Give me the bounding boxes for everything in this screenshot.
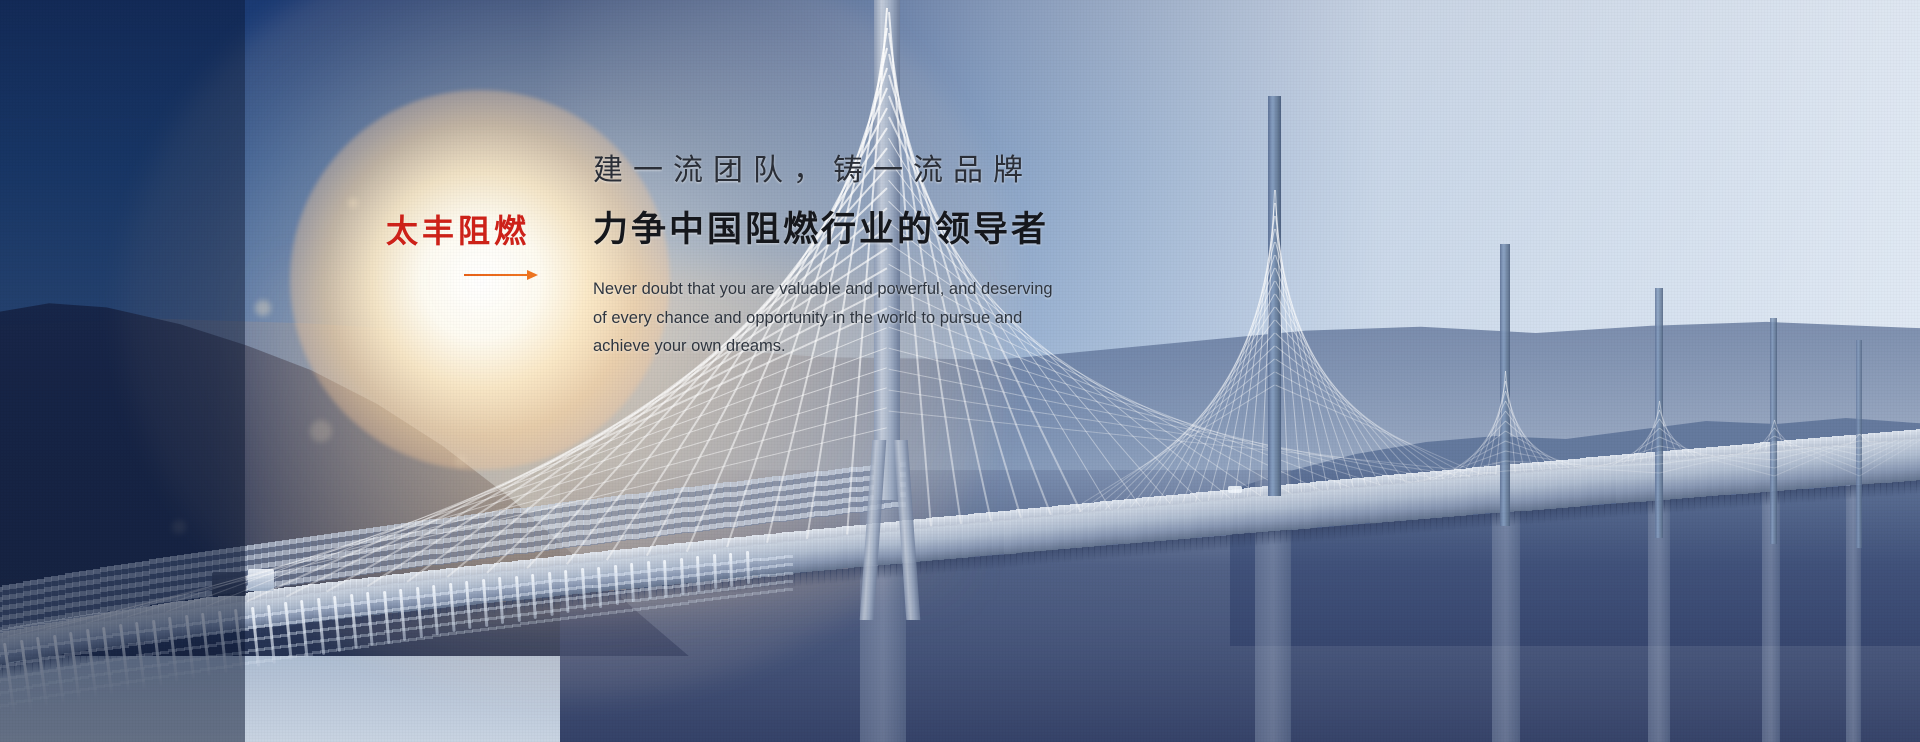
flare-speck bbox=[455, 455, 467, 467]
subtext-line-3: achieve your own dreams. bbox=[593, 332, 1373, 360]
banner-copy: 建一流团队，铸一流品牌 力争中国阻燃行业的领导者 Never doubt tha… bbox=[593, 150, 1373, 360]
headline-primary: 建一流团队，铸一流品牌 bbox=[593, 150, 1373, 192]
railing-band bbox=[784, 555, 793, 558]
brand-logo[interactable]: 太丰阻燃 bbox=[378, 215, 538, 279]
pylon-distant bbox=[1856, 340, 1862, 548]
railing-band bbox=[784, 572, 793, 575]
banner-subtext: Never doubt that you are valuable and po… bbox=[593, 275, 1373, 360]
flare-speck bbox=[348, 198, 358, 208]
brand-logo-text: 太丰阻燃 bbox=[378, 215, 538, 247]
arrow-line bbox=[464, 274, 532, 276]
subtext-line-1: Never doubt that you are valuable and po… bbox=[593, 275, 1373, 303]
arrow-head bbox=[527, 270, 538, 280]
headline-secondary: 力争中国阻燃行业的领导者 bbox=[593, 206, 1373, 253]
left-dark-overlay bbox=[0, 0, 245, 742]
deck-slab bbox=[1916, 438, 1920, 481]
flare-speck bbox=[310, 420, 332, 442]
subtext-line-2: of every chance and opportunity in the w… bbox=[593, 304, 1373, 332]
deck-road-surface bbox=[1916, 429, 1920, 439]
railing-band bbox=[784, 563, 793, 566]
railing-band bbox=[784, 580, 793, 583]
deck-underside-shadow bbox=[1916, 480, 1920, 494]
flare-speck bbox=[255, 300, 271, 316]
hero-banner: 太丰阻燃 建一流团队，铸一流品牌 力争中国阻燃行业的领导者 Never doub… bbox=[0, 0, 1920, 742]
railing-band bbox=[784, 588, 793, 591]
stay-cable bbox=[1659, 454, 1723, 455]
arrow-right-icon bbox=[464, 269, 538, 279]
